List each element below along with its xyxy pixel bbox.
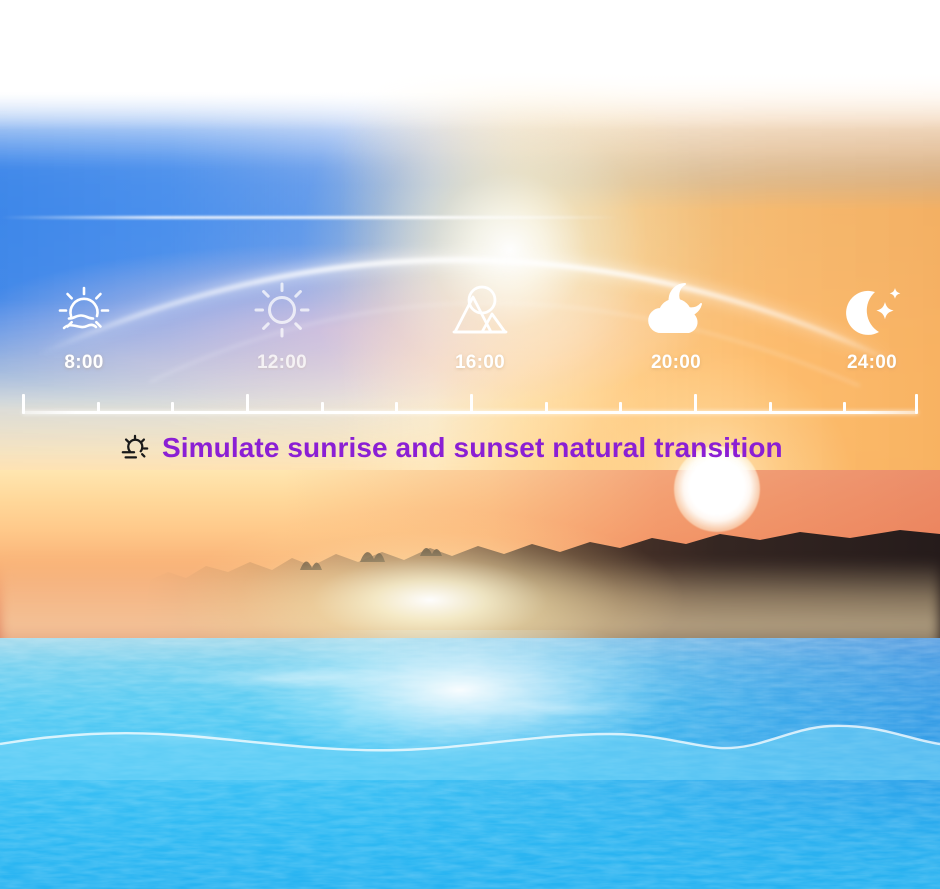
timeline-slot-0800[interactable]: 8:00	[24, 278, 144, 374]
timeline-label-1600: 16:00	[420, 352, 540, 374]
caption-text: Simulate sunrise and sunset natural tran…	[162, 432, 783, 464]
caption-row: Simulate sunrise and sunset natural tran…	[120, 428, 783, 468]
moon-stars-icon	[812, 278, 932, 340]
timeline-slot-1600[interactable]: 16:00	[420, 278, 540, 374]
timeline-ruler[interactable]	[22, 392, 918, 414]
sunrise-dark-icon	[120, 433, 150, 463]
ruler-tick-minor	[171, 402, 174, 414]
ocean-sunset-scene	[0, 470, 940, 889]
timeline-label-2400: 24:00	[812, 352, 932, 374]
timeline-label-0800: 8:00	[24, 352, 144, 374]
ruler-tick-minor	[321, 402, 324, 414]
ruler-tick-minor	[843, 402, 846, 414]
timeline-label-1200: 12:00	[222, 352, 342, 374]
timeline-label-2000: 20:00	[616, 352, 736, 374]
ruler-tick-minor	[769, 402, 772, 414]
top-white-fade	[0, 0, 940, 130]
ruler-tick-major	[470, 394, 473, 414]
ruler-tick-major	[915, 394, 918, 414]
sunset-mountain-icon	[420, 278, 540, 340]
ruler-tick-minor	[395, 402, 398, 414]
timeline-slot-1200[interactable]: 12:00	[222, 278, 342, 374]
cloud-moon-icon	[616, 278, 736, 340]
ruler-tick-minor	[97, 402, 100, 414]
ruler-tick-major	[22, 394, 25, 414]
timeline-slot-2000[interactable]: 20:00	[616, 278, 736, 374]
sun-icon	[222, 278, 342, 340]
ruler-tick-major	[246, 394, 249, 414]
ruler-tick-minor	[545, 402, 548, 414]
sunrise-icon	[24, 278, 144, 340]
sunrise-sunset-banner: 8:00 12:00	[0, 0, 940, 889]
ruler-tick-minor	[619, 402, 622, 414]
wave-edge-line	[0, 700, 940, 780]
timeline-icon-row: 8:00 12:00	[0, 278, 940, 408]
timeline-slot-2400[interactable]: 24:00	[812, 278, 932, 374]
ruler-tick-major	[694, 394, 697, 414]
